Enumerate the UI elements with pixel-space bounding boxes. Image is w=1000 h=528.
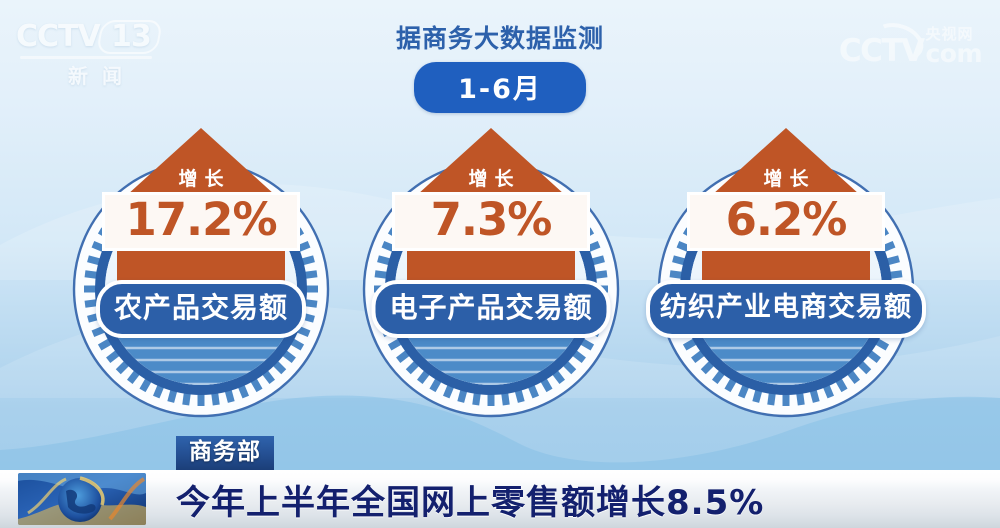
- growth-value-box: 7.3%: [392, 192, 590, 251]
- growth-arrow-shape: 增长 17.2%: [115, 126, 287, 296]
- growth-value: 6.2%: [690, 196, 882, 244]
- growth-value-box: 17.2%: [102, 192, 300, 251]
- stat-card: 增长 7.3% 电子产品交易额: [341, 126, 641, 426]
- header-title: 据商务大数据监测: [0, 24, 1000, 54]
- growth-value: 17.2%: [105, 196, 297, 244]
- headline-text: 今年上半年全国网上零售额增长8.5%: [176, 470, 994, 528]
- globe-graphic: [18, 473, 146, 525]
- growth-arrow-shape: 增长 6.2%: [700, 126, 872, 296]
- stat-card: 增长 6.2% 纺织产业电商交易额: [636, 126, 936, 426]
- stat-name-label: 农产品交易额: [96, 280, 306, 338]
- source-tag: 商务部: [176, 436, 274, 470]
- stat-name-label: 电子产品交易额: [371, 280, 610, 338]
- growth-label: 增长: [405, 164, 577, 191]
- stat-card: 增长 17.2% 农产品交易额: [51, 126, 351, 426]
- growth-value-box: 6.2%: [687, 192, 885, 251]
- period-badge: 1-6月: [414, 62, 586, 113]
- stat-name-label: 纺织产业电商交易额: [646, 280, 926, 338]
- stat-group: 增长 17.2% 农产品交易额: [0, 126, 1000, 426]
- broadcast-screen: CCTV 13 新闻 CCTV 央视网 com 据商务大数据监测 1-6月: [0, 0, 1000, 528]
- growth-label: 增长: [700, 164, 872, 191]
- growth-arrow-shape: 增长 7.3%: [405, 126, 577, 296]
- lower-third-banner: 今年上半年全国网上零售额增长8.5% 商务部: [0, 470, 1000, 528]
- growth-value: 7.3%: [395, 196, 587, 244]
- growth-label: 增长: [115, 164, 287, 191]
- header-block: 据商务大数据监测 1-6月: [0, 24, 1000, 113]
